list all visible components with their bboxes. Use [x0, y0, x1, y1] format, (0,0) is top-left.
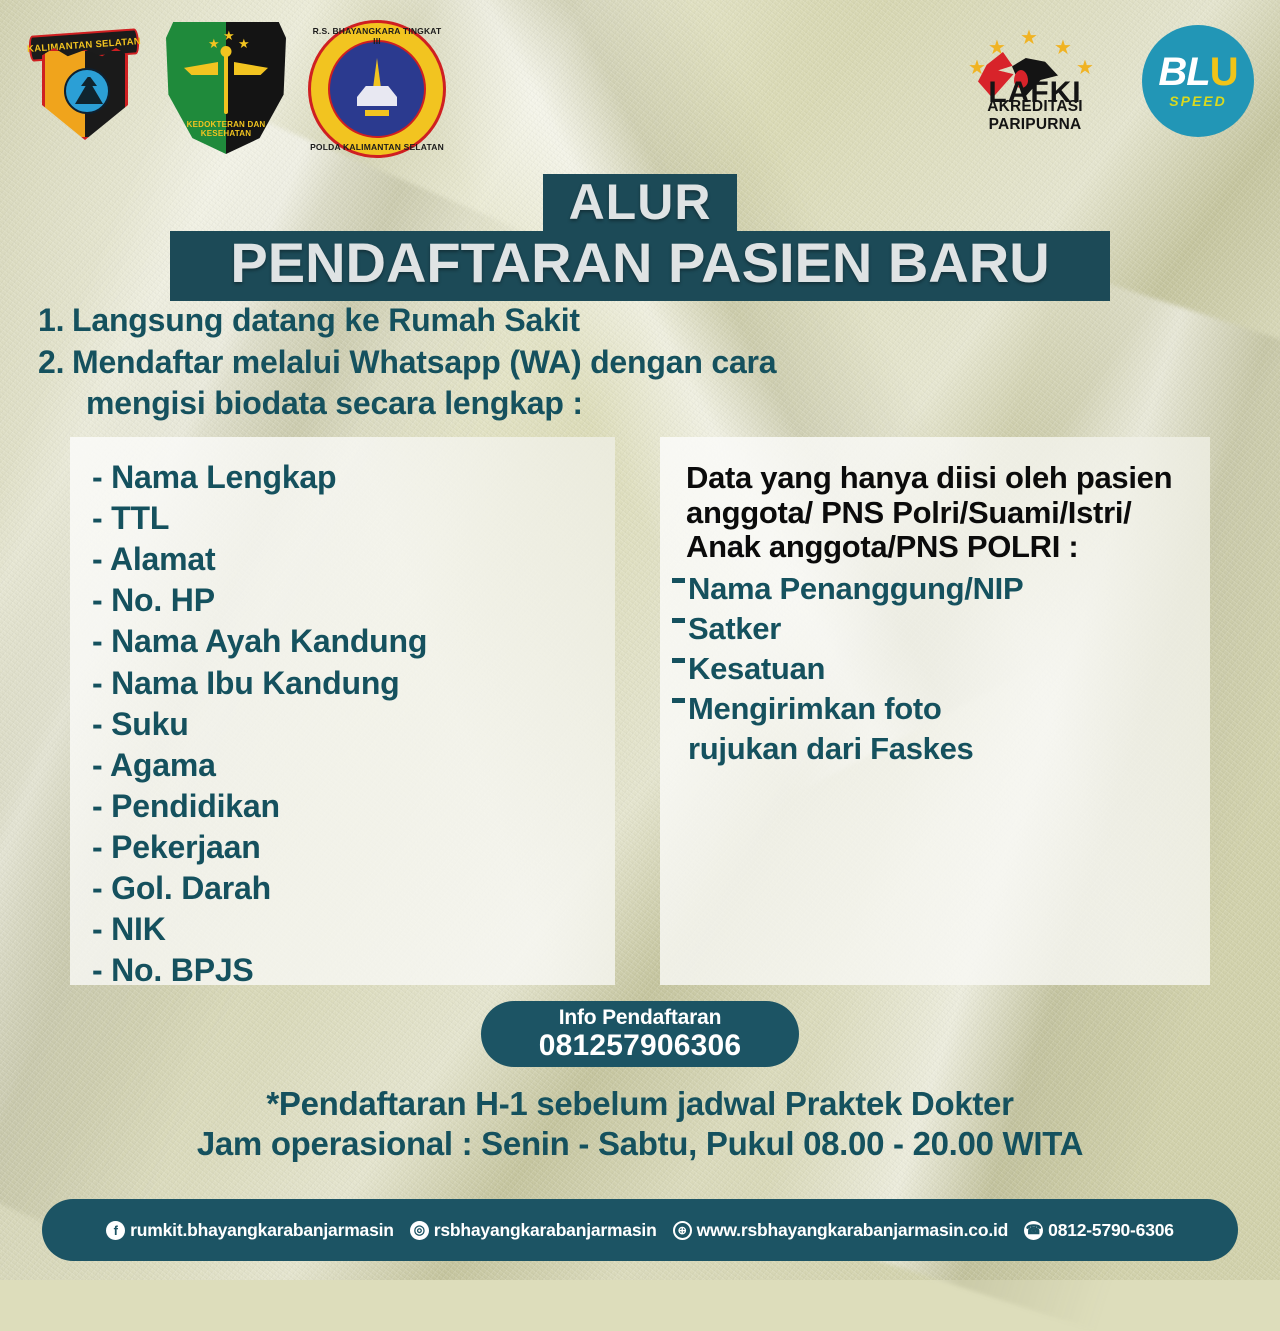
- kedokteran-caption: KEDOKTERAN DAN KESEHATAN: [166, 120, 286, 138]
- polda-kalsel-logo: KALIMANTAN SELATAN: [24, 16, 144, 146]
- poster: KALIMANTAN SELATAN ★ ★ ★ KEDOKTERAN DAN …: [0, 0, 1280, 1280]
- lafki-logo: ★ ★ ★ ★ ★ LAFKI AKREDITASI PARIPURNA: [950, 22, 1120, 140]
- page-title: ALUR PENDAFTARAN PASIEN BARU: [0, 174, 1280, 301]
- list-item: - Agama: [92, 745, 615, 786]
- caduceus-staff-icon: [224, 52, 228, 114]
- instagram-contact[interactable]: ◎ rsbhayangkarabanjarmasin: [410, 1220, 657, 1241]
- list-item: - Nama Ayah Kandung: [92, 621, 615, 662]
- polri-field-list: Nama Penanggung/NIP Satker Kesatuan Meng…: [660, 565, 1210, 769]
- star-icon: ★: [208, 36, 220, 52]
- list-item-label: Satker: [688, 609, 781, 649]
- list-item: - Suku: [92, 704, 615, 745]
- phone-contact[interactable]: ☎ 0812-5790-6306: [1024, 1220, 1174, 1241]
- rs-arc-bottom-text: POLDA KALIMANTAN SELATAN: [308, 142, 446, 152]
- contact-footer-bar: f rumkit.bhayangkarabanjarmasin ◎ rsbhay…: [42, 1199, 1238, 1261]
- dash-icon: [672, 618, 688, 623]
- blu-speed-logo: BLU SPEED: [1142, 25, 1254, 137]
- website-contact[interactable]: ⊕ www.rsbhayangkarabanjarmasin.co.id: [673, 1220, 1009, 1241]
- list-item: - No. HP: [92, 580, 615, 621]
- phone-icon: ☎: [1024, 1221, 1043, 1240]
- list-item: Mengirimkan foto: [672, 689, 1210, 729]
- polri-member-data-panel: Data yang hanya diisi oleh pasien anggot…: [660, 437, 1210, 985]
- note-line-2: Jam operasional : Senin - Sabtu, Pukul 0…: [0, 1124, 1280, 1164]
- rs-motif-icon: [357, 58, 397, 112]
- step-text: Langsung datang ke Rumah Sakit: [72, 300, 580, 342]
- dash-icon: [672, 578, 688, 583]
- list-item: Nama Penanggung/NIP: [672, 569, 1210, 609]
- list-item-continuation: rujukan dari Faskes: [672, 729, 1210, 769]
- blu-speed-tag: SPEED: [1169, 93, 1226, 109]
- list-item: - TTL: [92, 498, 615, 539]
- list-item-label: Nama Penanggung/NIP: [688, 569, 1023, 609]
- note-line-1: *Pendaftaran H-1 sebelum jadwal Praktek …: [0, 1084, 1280, 1124]
- list-item: Kesatuan: [672, 649, 1210, 689]
- globe-icon: ⊕: [673, 1221, 692, 1240]
- list-item: - Pendidikan: [92, 786, 615, 827]
- polri-panel-heading: Data yang hanya diisi oleh pasien anggot…: [660, 437, 1210, 565]
- step-continuation-text: mengisi biodata secara lengkap :: [86, 383, 776, 425]
- operational-notes: *Pendaftaran H-1 sebelum jadwal Praktek …: [0, 1084, 1280, 1165]
- lafki-subtitle: AKREDITASI PARIPURNA: [950, 98, 1120, 134]
- step-number: 2.: [38, 342, 72, 384]
- title-line-2: PENDAFTARAN PASIEN BARU: [170, 231, 1110, 301]
- blu-wordmark: BLU: [1158, 53, 1237, 91]
- biodata-fields-panel: - Nama Lengkap - TTL - Alamat - No. HP -…: [70, 437, 615, 985]
- website-url: www.rsbhayangkarabanjarmasin.co.id: [697, 1220, 1009, 1241]
- list-item: - Gol. Darah: [92, 868, 615, 909]
- facebook-icon: f: [106, 1221, 125, 1240]
- step-item: 2. Mendaftar melalui Whatsapp (WA) denga…: [38, 342, 776, 384]
- list-item: - Nama Ibu Kandung: [92, 663, 615, 704]
- polda-emblem-icon: [64, 68, 110, 114]
- blu-word-accent: U: [1210, 50, 1238, 94]
- pusdokkes-polri-logo: ★ ★ ★ KEDOKTERAN DAN KESEHATAN: [166, 22, 286, 154]
- title-line-1: ALUR: [543, 174, 738, 233]
- dash-icon: [672, 658, 688, 663]
- biodata-field-list: - Nama Lengkap - TTL - Alamat - No. HP -…: [70, 437, 615, 991]
- rs-arc-top-text: R.S. BHAYANGKARA TINGKAT III: [308, 26, 446, 46]
- list-item: - NIK: [92, 909, 615, 950]
- step-number: 1.: [38, 300, 72, 342]
- accreditation-logos: ★ ★ ★ ★ ★ LAFKI AKREDITASI PARIPURNA BLU…: [950, 22, 1254, 140]
- dash-icon: [672, 698, 688, 703]
- list-item-label: Kesatuan: [688, 649, 825, 689]
- list-item: - No. BPJS: [92, 950, 615, 991]
- registration-steps: 1. Langsung datang ke Rumah Sakit 2. Men…: [38, 300, 776, 425]
- rs-bhayangkara-logo: R.S. BHAYANGKARA TINGKAT III POLDA KALIM…: [308, 20, 446, 158]
- facebook-handle: rumkit.bhayangkarabanjarmasin: [130, 1220, 394, 1241]
- instagram-icon: ◎: [410, 1221, 429, 1240]
- list-item: - Pekerjaan: [92, 827, 615, 868]
- step-item: 1. Langsung datang ke Rumah Sakit: [38, 300, 776, 342]
- info-phone-number: 081257906306: [539, 1029, 742, 1062]
- blu-word-main: BL: [1158, 50, 1209, 94]
- star-icon: ★: [223, 28, 235, 44]
- institution-logos: KALIMANTAN SELATAN ★ ★ ★ KEDOKTERAN DAN …: [24, 16, 446, 158]
- registration-info-badge[interactable]: Info Pendaftaran 081257906306: [481, 1001, 799, 1067]
- list-item: - Alamat: [92, 539, 615, 580]
- info-label: Info Pendaftaran: [559, 1007, 721, 1028]
- step-text: Mendaftar melalui Whatsapp (WA) dengan c…: [72, 342, 776, 384]
- star-icon: ★: [238, 36, 250, 52]
- list-item-label: Mengirimkan foto: [688, 689, 942, 729]
- facebook-contact[interactable]: f rumkit.bhayangkarabanjarmasin: [106, 1220, 394, 1241]
- instagram-handle: rsbhayangkarabanjarmasin: [434, 1220, 657, 1241]
- list-item: - Nama Lengkap: [92, 457, 615, 498]
- phone-number: 0812-5790-6306: [1048, 1220, 1174, 1241]
- list-item: Satker: [672, 609, 1210, 649]
